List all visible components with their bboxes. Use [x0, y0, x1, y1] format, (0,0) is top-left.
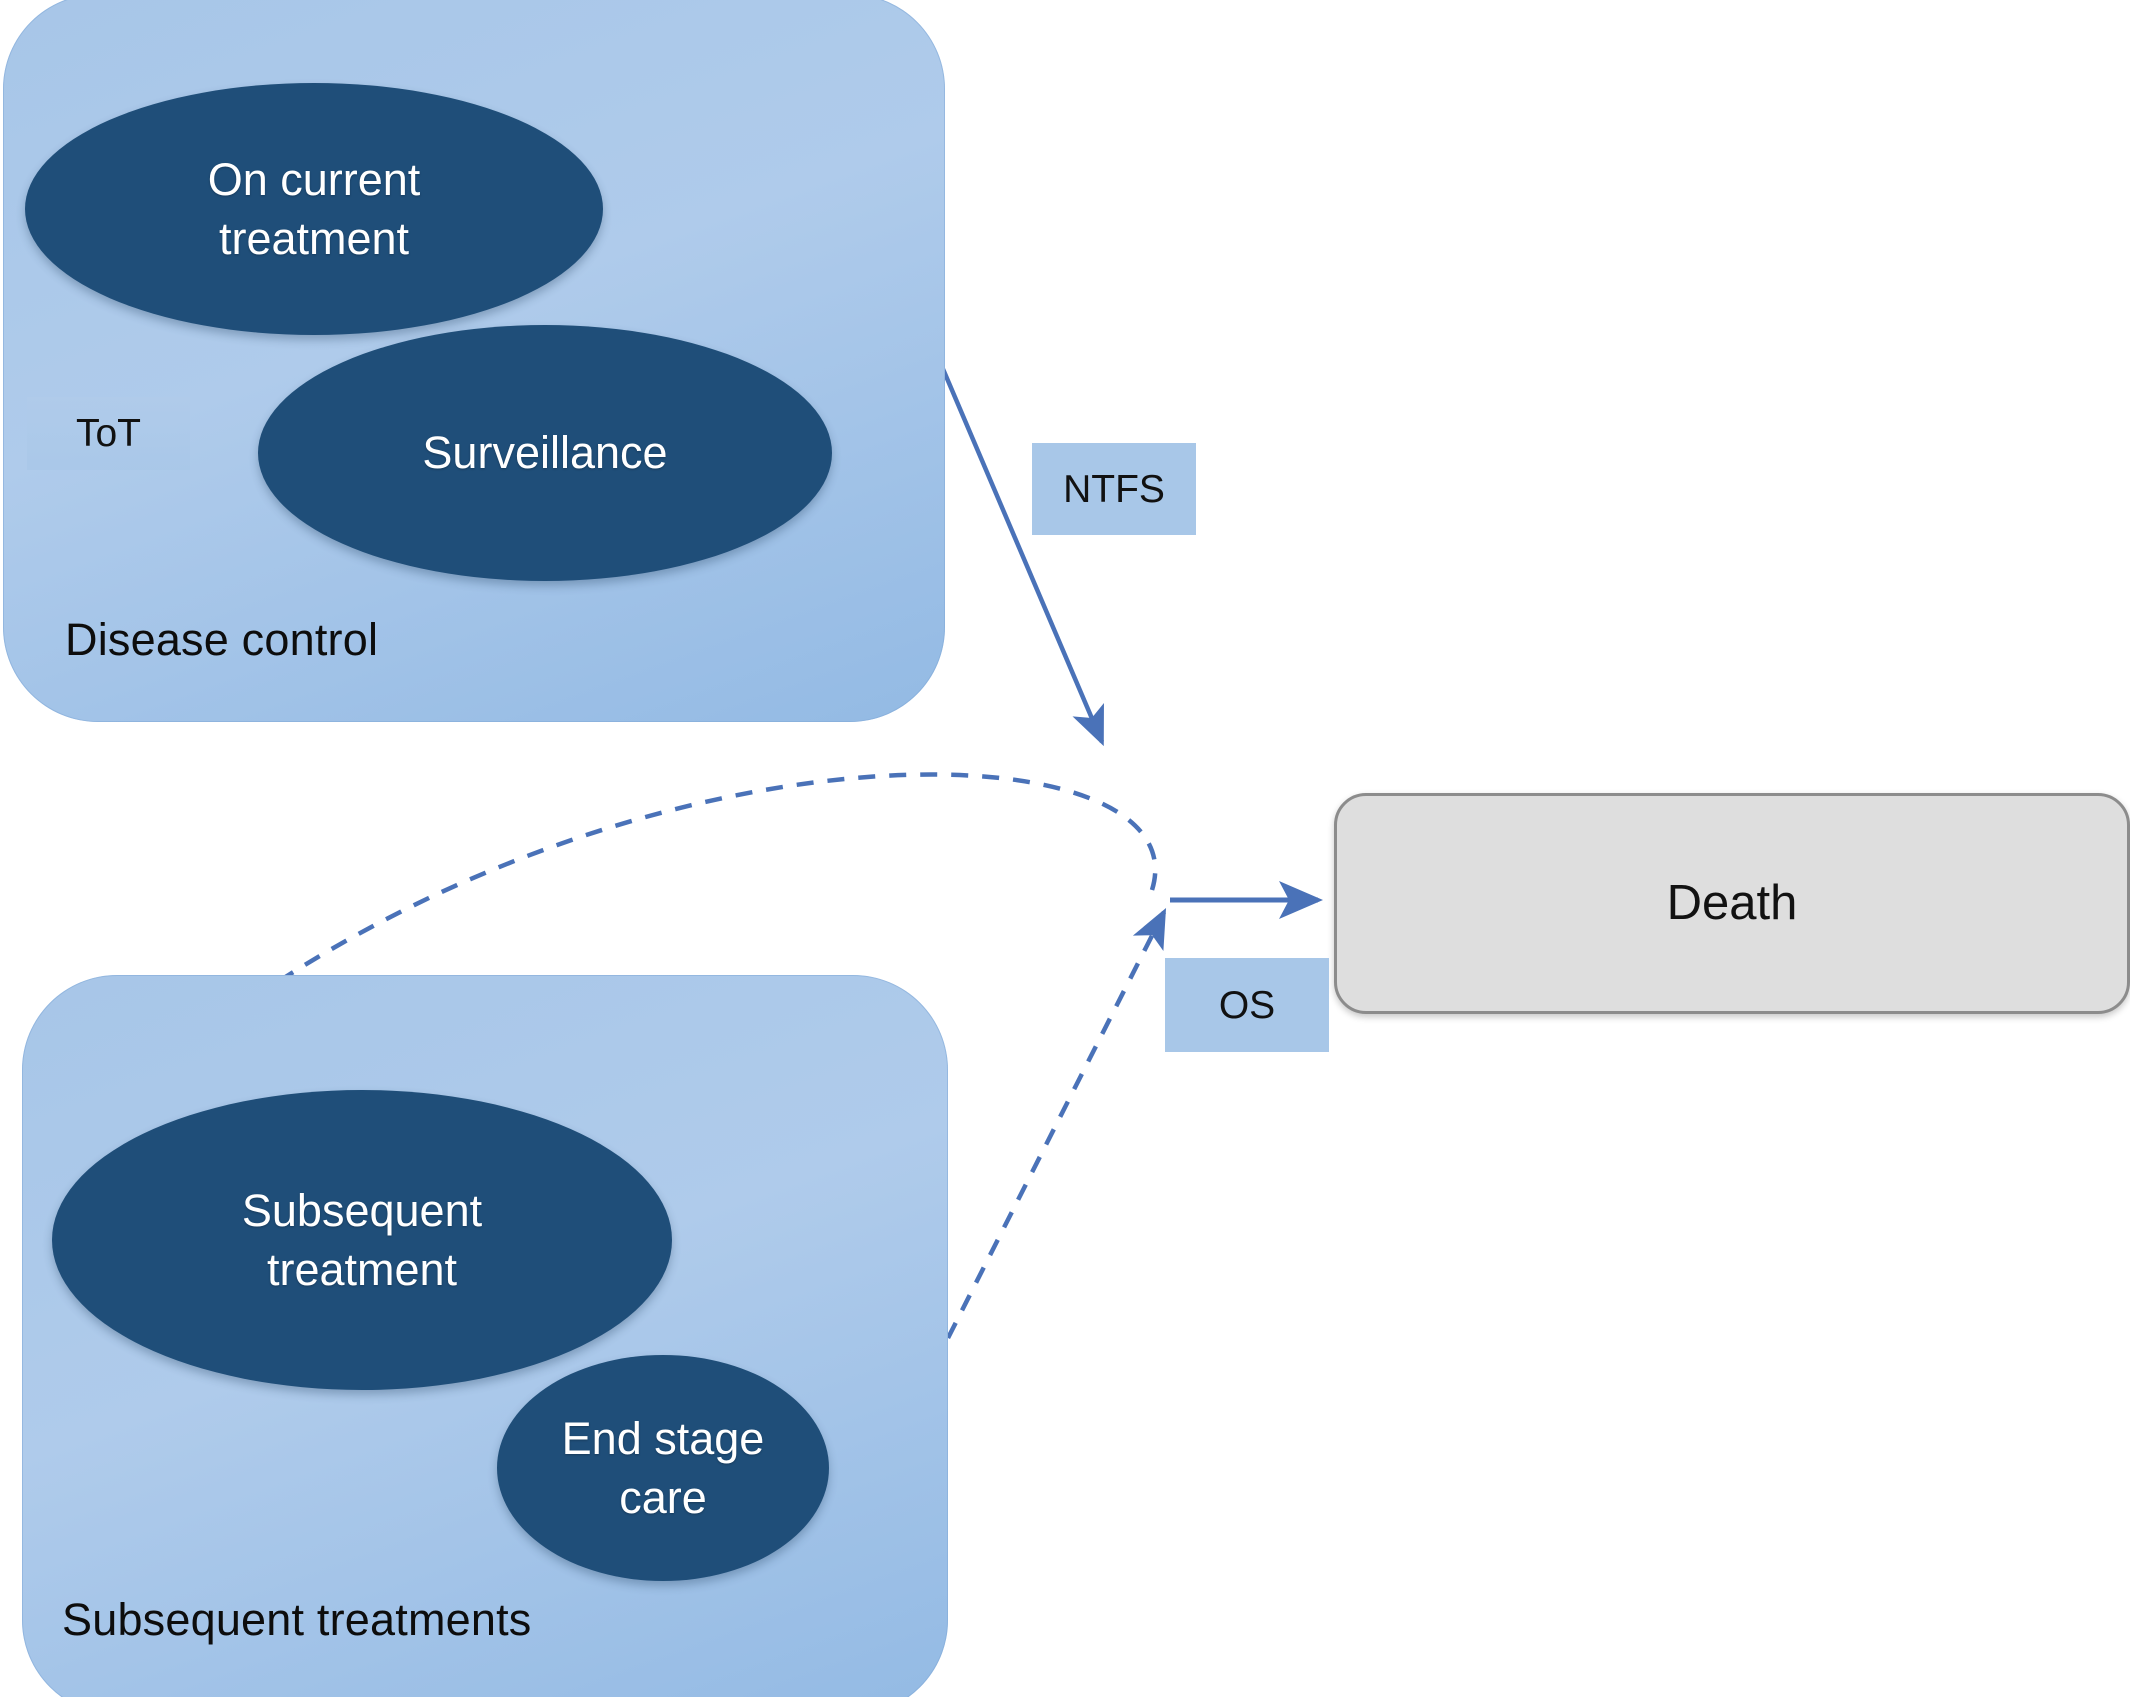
state-label-death: Death [1667, 879, 1798, 928]
transition-tag-ntfs[interactable]: NTFS [1032, 443, 1196, 535]
arrow-ntfs-to-junction [940, 362, 1102, 742]
state-label-end-stage-care: End stage care [562, 1409, 765, 1528]
state-label-subsequent-treatment: Subsequent treatment [242, 1181, 482, 1300]
transition-tag-tot[interactable]: ToT [27, 397, 190, 470]
transition-tag-label-tot: ToT [76, 414, 141, 453]
state-subsequent-treatment[interactable]: Subsequent treatment [52, 1090, 672, 1390]
group-label-subsequent-treatments: Subsequent treatments [62, 1597, 532, 1642]
transition-tag-label-os: OS [1219, 986, 1275, 1025]
state-death[interactable]: Death [1334, 793, 2130, 1014]
state-on-current-treatment[interactable]: On current treatment [25, 83, 603, 335]
transition-tag-label-ntfs: NTFS [1063, 470, 1165, 509]
state-end-stage-care[interactable]: End stage care [497, 1355, 829, 1581]
state-surveillance[interactable]: Surveillance [258, 325, 832, 581]
group-label-disease-control: Disease control [65, 617, 378, 662]
state-label-on-current-treatment: On current treatment [208, 150, 421, 269]
transition-tag-os[interactable]: OS [1165, 958, 1329, 1052]
diagram-canvas: On current treatment Surveillance ToT Di… [0, 0, 2130, 1697]
arrow-os-to-junction [948, 912, 1164, 1338]
state-label-surveillance: Surveillance [422, 423, 667, 482]
